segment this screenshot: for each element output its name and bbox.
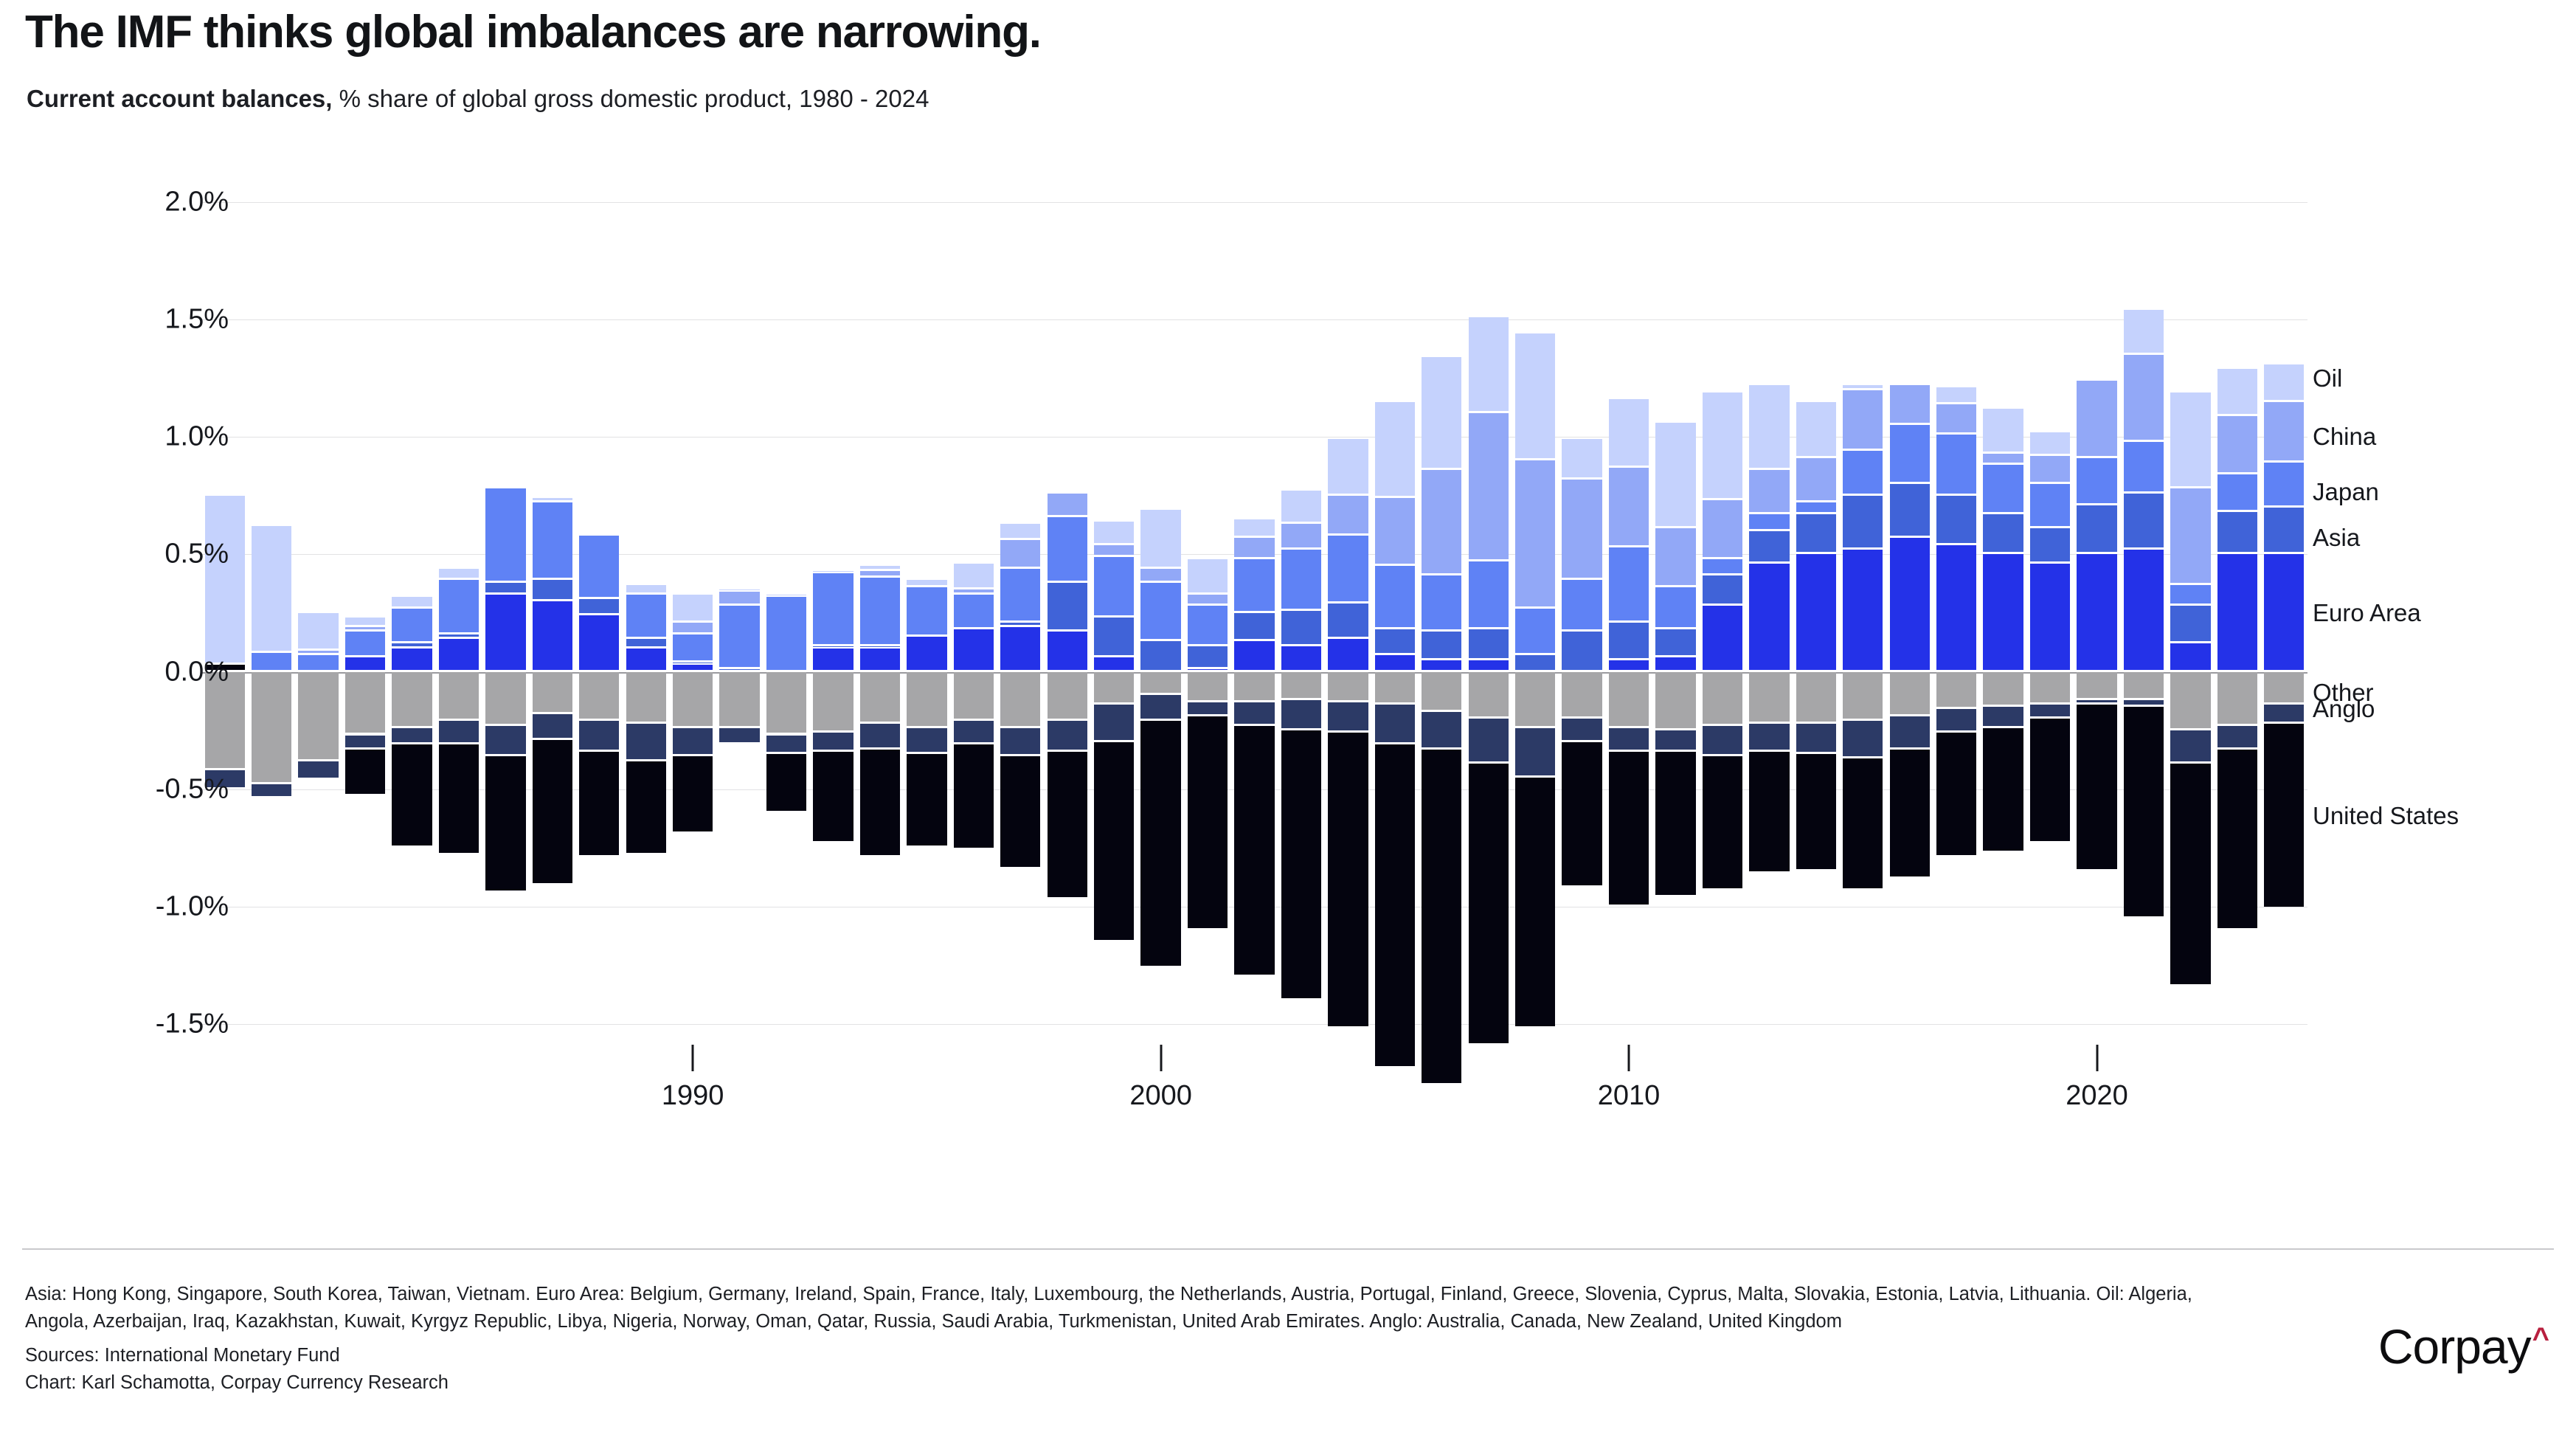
y-axis-tick-label: 1.0%	[74, 421, 229, 453]
bar-segment-asia	[2030, 528, 2070, 561]
bar-segment-oil	[1655, 423, 1695, 526]
bar-segment-china	[1422, 470, 1461, 573]
bar-2022[interactable]	[2170, 202, 2210, 1024]
bar-2019[interactable]	[2030, 202, 2070, 1024]
bar-segment-united-states	[907, 754, 946, 845]
bar-segment-asia	[1281, 611, 1321, 644]
bar-segment-other	[345, 672, 385, 733]
legend-label-japan: Japan	[2313, 478, 2379, 506]
bar-1991[interactable]	[719, 202, 759, 1024]
bar-segment-euro-area	[1000, 627, 1040, 669]
bar-segment-japan	[2077, 458, 2116, 503]
footer-notes: Asia: Hong Kong, Singapore, South Korea,…	[25, 1281, 2201, 1397]
x-axis-tick-mark	[1160, 1045, 1162, 1071]
bar-segment-asia	[1000, 623, 1040, 625]
bar-segment-euro-area	[345, 657, 385, 669]
bar-segment-japan	[1796, 502, 1836, 512]
bar-1986[interactable]	[485, 202, 525, 1024]
legend-label-euro-area: Euro Area	[2313, 599, 2421, 627]
bar-1999[interactable]	[1094, 202, 1134, 1024]
bar-segment-china	[1140, 569, 1180, 581]
corpay-wordmark: Corpay	[2378, 1322, 2531, 1371]
bar-segment-oil	[298, 613, 338, 649]
bar-1988[interactable]	[579, 202, 619, 1024]
bar-segment-china	[1469, 413, 1509, 559]
bar-segment-japan	[766, 597, 806, 670]
bar-segment-euro-area	[1094, 657, 1134, 669]
bar-segment-anglo	[1749, 724, 1789, 750]
bar-segment-anglo	[2170, 730, 2210, 761]
chart-legend: OilChinaJapanAsiaEuro AreaUnited StatesA…	[2313, 202, 2576, 1024]
bar-2016[interactable]	[1890, 202, 1930, 1024]
bar-segment-asia	[813, 646, 853, 647]
bar-segment-other	[1890, 672, 1930, 714]
bar-segment-oil	[954, 564, 994, 587]
bar-segment-china	[1655, 528, 1695, 585]
bar-segment-japan	[1375, 566, 1415, 627]
x-axis-tick-label: 2000	[1129, 1080, 1192, 1112]
bar-segment-euro-area	[1749, 564, 1789, 669]
bar-segment-other	[1796, 672, 1836, 722]
bar-segment-euro-area	[1469, 660, 1509, 670]
bar-segment-japan	[298, 655, 338, 669]
bar-segment-other	[485, 672, 525, 724]
bar-segment-asia	[1796, 514, 1836, 552]
bar-segment-japan	[1890, 425, 1930, 482]
bar-1995[interactable]	[907, 202, 946, 1024]
x-axis: 1990200020102020	[201, 1024, 2307, 1149]
bar-segment-oil	[860, 566, 900, 568]
bar-segment-japan	[1094, 557, 1134, 616]
bar-segment-euro-area	[2217, 554, 2257, 669]
bar-segment-euro-area	[1375, 655, 1415, 669]
bar-segment-euro-area	[579, 615, 619, 669]
bar-segment-japan	[1515, 609, 1555, 654]
bar-2007[interactable]	[1469, 202, 1509, 1024]
bar-segment-japan	[2264, 463, 2304, 505]
bar-segment-euro-area	[626, 649, 666, 670]
bar-segment-japan	[533, 502, 572, 578]
bar-segment-asia	[1703, 575, 1742, 604]
bar-2018[interactable]	[1983, 202, 2023, 1024]
bar-segment-asia	[1515, 655, 1555, 669]
bar-segment-anglo	[2217, 726, 2257, 747]
bar-segment-asia	[1328, 604, 1368, 637]
bar-segment-euro-area	[1281, 646, 1321, 670]
bar-2023[interactable]	[2217, 202, 2257, 1024]
legend-label-china: China	[2313, 423, 2376, 451]
bar-segment-anglo	[1422, 712, 1461, 747]
bar-segment-china	[2124, 355, 2164, 440]
bar-1992[interactable]	[766, 202, 806, 1024]
bar-segment-japan	[1843, 451, 1883, 493]
bar-segment-japan	[1140, 583, 1180, 640]
bar-1984[interactable]	[392, 202, 432, 1024]
bar-segment-other	[252, 672, 291, 783]
bar-segment-other	[1609, 672, 1649, 726]
bar-segment-oil	[1936, 387, 1976, 401]
subtitle-bold: Current account balances,	[27, 85, 332, 112]
bar-segment-asia	[1890, 484, 1930, 536]
bar-segment-japan	[719, 606, 759, 667]
bar-segment-japan	[1281, 550, 1321, 609]
bar-2003[interactable]	[1281, 202, 1321, 1024]
bar-segment-united-states	[1796, 754, 1836, 869]
bar-segment-euro-area	[1655, 657, 1695, 669]
legend-label-asia: Asia	[2313, 524, 2360, 552]
bar-segment-other	[907, 672, 946, 726]
bar-2002[interactable]	[1234, 202, 1274, 1024]
bar-segment-other	[954, 672, 994, 719]
bar-segment-china	[1188, 595, 1228, 604]
bar-segment-china	[1890, 385, 1930, 423]
bar-segment-anglo	[907, 728, 946, 752]
bar-segment-japan	[2124, 442, 2164, 491]
bar-segment-oil	[766, 595, 806, 595]
bar-segment-japan	[1048, 517, 1087, 581]
x-axis-tick-label: 2010	[1598, 1080, 1661, 1112]
bar-segment-anglo	[673, 728, 713, 754]
bar-segment-other	[1843, 672, 1883, 719]
bar-segment-anglo	[2030, 705, 2070, 716]
bar-segment-japan	[1188, 606, 1228, 643]
bar-segment-united-states	[1281, 730, 1321, 998]
bar-segment-asia	[2217, 512, 2257, 552]
bar-2005[interactable]	[1375, 202, 1415, 1024]
bar-2020[interactable]	[2077, 202, 2116, 1024]
bar-segment-united-states	[813, 752, 853, 841]
bar-segment-asia	[1140, 641, 1180, 669]
bar-segment-japan	[1234, 559, 1274, 611]
bar-segment-china	[1609, 468, 1649, 545]
bar-segment-china	[1562, 480, 1602, 578]
bar-segment-china	[1983, 454, 2023, 463]
bar-segment-euro-area	[1048, 632, 1087, 669]
bar-segment-united-states	[1562, 742, 1602, 885]
group-definitions: Asia: Hong Kong, Singapore, South Korea,…	[25, 1281, 2201, 1335]
bar-segment-oil	[1094, 522, 1134, 543]
bar-segment-japan	[907, 587, 946, 634]
bar-segment-china	[1234, 538, 1274, 557]
bar-segment-other	[1655, 672, 1695, 729]
plot-area	[201, 202, 2307, 1024]
bar-segment-united-states	[1188, 716, 1228, 928]
bar-segment-united-states	[1375, 744, 1415, 1066]
bar-segment-asia	[1094, 618, 1134, 655]
bar-segment-other	[719, 672, 759, 726]
page-title: The IMF thinks global imbalances are nar…	[25, 6, 1041, 58]
bar-segment-china	[954, 589, 994, 592]
bar-segment-japan	[954, 595, 994, 628]
x-axis-tick-label: 2020	[2066, 1080, 2128, 1112]
bar-segment-united-states	[1655, 752, 1695, 895]
bar-segment-euro-area	[1890, 538, 1930, 669]
subtitle-rest: % share of global gross domestic product…	[332, 85, 929, 112]
bar-segment-china	[298, 651, 338, 653]
bar-segment-china	[345, 627, 385, 629]
bar-segment-anglo	[1234, 702, 1274, 724]
bar-segment-united-states	[1094, 742, 1134, 940]
bar-segment-japan	[1936, 435, 1976, 494]
bar-1989[interactable]	[626, 202, 666, 1024]
bar-segment-euro-area	[860, 649, 900, 670]
bar-segment-oil	[345, 618, 385, 625]
corpay-caret-icon: ^	[2532, 1324, 2549, 1353]
bar-1990[interactable]	[673, 202, 713, 1024]
bar-segment-euro-area	[954, 629, 994, 669]
bar-segment-asia	[1655, 629, 1695, 655]
bar-segment-asia	[673, 663, 713, 663]
bar-2012[interactable]	[1703, 202, 1742, 1024]
bar-1994[interactable]	[860, 202, 900, 1024]
bar-segment-oil	[2030, 432, 2070, 454]
bar-segment-china	[2077, 381, 2116, 456]
bar-segment-other	[673, 672, 713, 726]
bar-segment-anglo	[1983, 707, 2023, 726]
bar-segment-oil	[813, 571, 853, 572]
bar-segment-united-states	[860, 750, 900, 855]
bar-segment-japan	[485, 488, 525, 580]
bar-2009[interactable]	[1562, 202, 1602, 1024]
bar-segment-japan	[1749, 514, 1789, 528]
bar-segment-united-states	[1140, 721, 1180, 965]
bar-segment-anglo	[1655, 730, 1695, 750]
bar-segment-oil	[1140, 510, 1180, 567]
y-axis-tick-label: -1.0%	[74, 891, 229, 922]
bar-2008[interactable]	[1515, 202, 1555, 1024]
bar-segment-united-states	[2264, 724, 2304, 907]
bar-1985[interactable]	[439, 202, 479, 1024]
bar-segment-united-states	[1234, 726, 1274, 975]
y-axis-tick-label: 2.0%	[74, 187, 229, 218]
bar-segment-japan	[1609, 547, 1649, 620]
bar-2013[interactable]	[1749, 202, 1789, 1024]
bar-segment-oil	[1796, 402, 1836, 456]
bar-segment-other	[1422, 672, 1461, 710]
bar-segment-anglo	[813, 733, 853, 749]
bar-segment-other	[1328, 672, 1368, 700]
x-axis-tick-mark	[692, 1045, 694, 1071]
bar-segment-china	[1936, 404, 1976, 432]
bar-segment-oil	[439, 569, 479, 578]
bar-segment-oil	[392, 597, 432, 606]
bar-segment-japan	[1655, 587, 1695, 627]
bar-segment-oil	[1843, 385, 1883, 387]
bar-segment-oil	[719, 589, 759, 590]
bar-segment-other	[1983, 672, 2023, 705]
bar-segment-asia	[1422, 632, 1461, 657]
bar-segment-united-states	[2077, 705, 2116, 869]
bar-segment-anglo	[485, 726, 525, 754]
bar-segment-other	[2170, 672, 2210, 729]
bar-segment-china	[2030, 456, 2070, 482]
bar-segment-other	[2030, 672, 2070, 703]
bar-segment-oil	[205, 496, 245, 663]
x-axis-tick-mark	[1628, 1045, 1630, 1071]
bar-segment-united-states	[1515, 778, 1555, 1027]
bar-segment-euro-area	[813, 649, 853, 670]
bar-segment-united-states	[1328, 733, 1368, 1026]
bar-segment-euro-area	[533, 601, 572, 669]
bar-segment-united-states	[485, 756, 525, 891]
bar-segment-china	[2264, 402, 2304, 461]
bar-1997[interactable]	[1000, 202, 1040, 1024]
bar-segment-other	[1936, 672, 1976, 708]
bar-segment-japan	[579, 536, 619, 597]
legend-label-united-states: United States	[2313, 802, 2459, 830]
bar-segment-euro-area	[1703, 606, 1742, 669]
bar-segment-euro-area	[1936, 545, 1976, 670]
bar-1981[interactable]	[252, 202, 291, 1024]
bar-segment-asia	[626, 639, 666, 646]
bar-1982[interactable]	[298, 202, 338, 1024]
bar-segment-china	[673, 623, 713, 632]
bar-1993[interactable]	[813, 202, 853, 1024]
bar-segment-asia	[2264, 508, 2304, 553]
bar-segment-oil	[1234, 519, 1274, 536]
bar-segment-anglo	[1890, 716, 1930, 747]
bar-2011[interactable]	[1655, 202, 1695, 1024]
bar-2014[interactable]	[1796, 202, 1836, 1024]
page-subtitle: Current account balances, % share of glo…	[27, 85, 929, 113]
bar-segment-anglo	[1048, 721, 1087, 749]
bar-segment-china	[860, 571, 900, 576]
bar-1983[interactable]	[345, 202, 385, 1024]
bar-segment-united-states	[954, 744, 994, 848]
bar-segment-euro-area	[1234, 641, 1274, 669]
chart-page: The IMF thinks global imbalances are nar…	[0, 0, 2576, 1449]
bar-segment-asia	[1234, 613, 1274, 639]
bar-segment-china	[1843, 390, 1883, 449]
bar-segment-asia	[1048, 583, 1087, 630]
bar-segment-united-states	[673, 756, 713, 831]
bar-segment-other	[1188, 672, 1228, 700]
bar-segment-euro-area	[485, 595, 525, 670]
bar-segment-asia	[533, 580, 572, 599]
bar-1996[interactable]	[954, 202, 994, 1024]
bar-segment-china	[1375, 498, 1415, 564]
bar-segment-other	[1281, 672, 1321, 698]
bar-segment-japan	[1562, 580, 1602, 629]
bar-segment-other	[1048, 672, 1087, 719]
bar-segment-oil	[673, 595, 713, 620]
bar-segment-china	[1281, 524, 1321, 547]
bar-segment-oil	[907, 580, 946, 585]
bar-segment-other	[626, 672, 666, 722]
bar-segment-anglo	[533, 714, 572, 738]
bar-segment-united-states	[2217, 750, 2257, 928]
bar-segment-euro-area	[2170, 643, 2210, 669]
bar-segment-oil	[533, 498, 572, 500]
bar-segment-oil	[2170, 392, 2210, 486]
bar-series-container	[201, 202, 2307, 1024]
bar-2015[interactable]	[1843, 202, 1883, 1024]
bar-1987[interactable]	[533, 202, 572, 1024]
bar-segment-united-states	[1703, 756, 1742, 888]
bar-segment-united-states	[1936, 733, 1976, 855]
bar-2006[interactable]	[1422, 202, 1461, 1024]
bar-segment-other	[813, 672, 853, 731]
y-axis-tick-label: 0.0%	[74, 656, 229, 688]
bar-2004[interactable]	[1328, 202, 1368, 1024]
y-axis-tick-label: 0.5%	[74, 539, 229, 570]
bar-segment-other	[1469, 672, 1509, 717]
bar-segment-oil	[1469, 317, 1509, 411]
bar-segment-anglo	[1000, 728, 1040, 754]
bar-segment-united-states	[1749, 752, 1789, 872]
bar-segment-euro-area	[2077, 554, 2116, 669]
bar-2010[interactable]	[1609, 202, 1649, 1024]
bar-segment-oil	[1375, 402, 1415, 496]
bar-segment-oil	[1188, 559, 1228, 592]
bar-2024[interactable]	[2264, 202, 2304, 1024]
bar-1998[interactable]	[1048, 202, 1087, 1024]
bar-segment-asia	[1562, 632, 1602, 669]
bar-segment-japan	[439, 580, 479, 632]
bar-segment-other	[1375, 672, 1415, 703]
bar-segment-anglo	[1328, 702, 1368, 730]
bar-segment-euro-area	[2030, 564, 2070, 669]
bar-segment-anglo	[719, 728, 759, 742]
bar-segment-united-states	[2030, 719, 2070, 841]
bar-segment-china	[1328, 496, 1368, 533]
bar-segment-anglo	[2264, 705, 2304, 721]
bar-segment-euro-area	[1328, 639, 1368, 670]
bar-segment-united-states	[766, 754, 806, 811]
bar-segment-asia	[1188, 646, 1228, 668]
bar-segment-oil	[1703, 392, 1742, 498]
bar-segment-china	[1796, 458, 1836, 500]
bar-2021[interactable]	[2124, 202, 2164, 1024]
bar-2017[interactable]	[1936, 202, 1976, 1024]
corpay-logo: Corpay ^	[2378, 1322, 2549, 1380]
bar-segment-asia	[1609, 623, 1649, 658]
bar-segment-united-states	[2124, 707, 2164, 916]
bar-segment-japan	[252, 653, 291, 669]
bar-segment-china	[2170, 488, 2210, 582]
bar-segment-asia	[1936, 496, 1976, 543]
bar-segment-euro-area	[1188, 669, 1228, 670]
bar-segment-japan	[392, 609, 432, 642]
bar-segment-anglo	[2124, 700, 2164, 705]
bar-segment-other	[766, 672, 806, 733]
bar-segment-united-states	[1890, 750, 1930, 876]
bar-segment-oil	[1422, 357, 1461, 468]
bar-segment-euro-area	[439, 639, 479, 670]
bar-segment-united-states	[392, 744, 432, 845]
bar-segment-asia	[485, 583, 525, 592]
bar-segment-other	[860, 672, 900, 722]
bar-segment-anglo	[1703, 726, 1742, 754]
bar-segment-oil	[2124, 310, 2164, 352]
bar-segment-anglo	[1515, 728, 1555, 775]
bar-segment-china	[719, 592, 759, 604]
bar-segment-other	[1000, 672, 1040, 726]
bar-2000[interactable]	[1140, 202, 1180, 1024]
bar-segment-japan	[860, 578, 900, 643]
bar-segment-china	[1515, 460, 1555, 606]
bar-segment-euro-area	[1609, 660, 1649, 670]
bar-segment-asia	[1843, 496, 1883, 547]
bar-segment-united-states	[2170, 764, 2210, 984]
bar-segment-japan	[1469, 561, 1509, 627]
bar-segment-other	[1234, 672, 1274, 700]
bar-segment-japan	[813, 573, 853, 644]
bar-2001[interactable]	[1188, 202, 1228, 1024]
bar-segment-other	[1749, 672, 1789, 722]
bar-segment-united-states	[439, 744, 479, 853]
bar-segment-united-states	[1048, 752, 1087, 898]
